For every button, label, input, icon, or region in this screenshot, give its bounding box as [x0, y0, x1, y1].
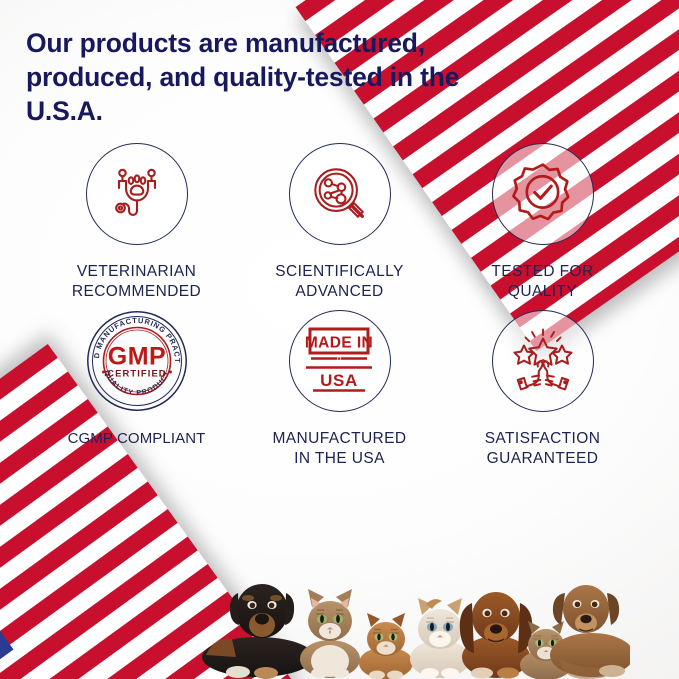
- page-title: Our products are manufactured, produced,…: [26, 26, 496, 128]
- badge-label: SCIENTIFICALLY ADVANCED: [275, 262, 403, 302]
- rosette-check-icon: [510, 161, 576, 227]
- badge-circle: GOOD MANUFACTURING PRACTICE QUALITY PROD…: [86, 310, 188, 412]
- badge-circle: MADE IN USA: [289, 310, 391, 412]
- badge-label: MANUFACTURED IN THE USA: [273, 429, 407, 469]
- badge-cgmp-compliant: GOOD MANUFACTURING PRACTICE QUALITY PROD…: [35, 310, 238, 449]
- badge-scientifically-advanced: SCIENTIFICALLY ADVANCED: [238, 143, 441, 302]
- gmp-main-text: GMP: [107, 343, 165, 371]
- stethoscope-paw-icon: [105, 162, 169, 226]
- gmp-certified-seal-icon: GOOD MANUFACTURING PRACTICE QUALITY PROD…: [86, 310, 188, 412]
- badge-manufactured-in-the-usa: MADE IN USA MANUFACTURED IN THE USA: [238, 310, 441, 469]
- stamp-line-2: USA: [320, 371, 358, 390]
- group-of-dogs-and-cats-photo: [200, 559, 630, 679]
- badge-label: VETERINARIAN RECOMMENDED: [72, 262, 201, 302]
- pet-tabby-cat-1: [300, 589, 360, 678]
- gmp-sub-text: CERTIFIED: [107, 368, 166, 379]
- badge-label: TESTED FOR QUALITY: [491, 262, 593, 302]
- badge-row-2: GOOD MANUFACTURING PRACTICE QUALITY PROD…: [0, 310, 679, 469]
- thumbs-up-stars-icon: [506, 328, 580, 394]
- badge-label: CGMP COMPLIANT: [68, 429, 206, 449]
- stamp-line-1: MADE IN: [304, 335, 372, 352]
- trust-badge-grid: VETERINARIAN RECOMMENDED: [0, 143, 679, 469]
- badge-circle: [86, 143, 188, 245]
- pet-tabby-cat-2: [359, 613, 413, 679]
- badge-row-1: VETERINARIAN RECOMMENDED: [0, 143, 679, 302]
- badge-circle: [289, 143, 391, 245]
- promo-graphic: Our products are manufactured, produced,…: [0, 0, 679, 679]
- badge-circle: [492, 310, 594, 412]
- pet-white-cat: [410, 598, 470, 678]
- badge-tested-for-quality: TESTED FOR QUALITY: [441, 143, 644, 302]
- badge-circle: [492, 143, 594, 245]
- badge-label: SATISFACTION GUARANTEED: [485, 429, 601, 469]
- badge-satisfaction-guaranteed: SATISFACTION GUARANTEED: [441, 310, 644, 469]
- magnifier-molecule-icon: [309, 163, 371, 225]
- made-in-usa-stamp-icon: MADE IN USA: [303, 326, 377, 396]
- pet-black-dog: [202, 584, 314, 679]
- pet-brown-dog: [550, 585, 630, 679]
- badge-veterinarian-recommended: VETERINARIAN RECOMMENDED: [35, 143, 238, 302]
